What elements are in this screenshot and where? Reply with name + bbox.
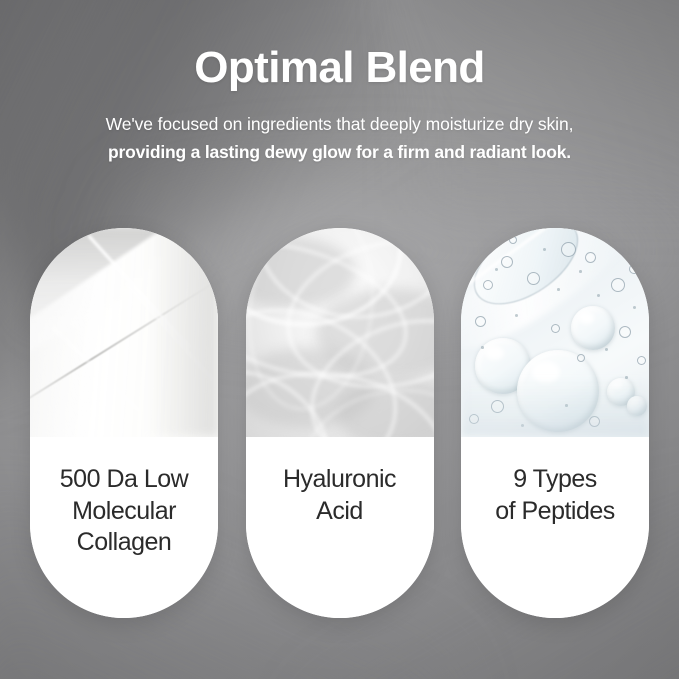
page-subtitle: We've focused on ingredients that deeply… <box>0 91 679 167</box>
page-title: Optimal Blend <box>0 0 679 91</box>
card-body-collagen: 500 Da Low Molecular Collagen <box>30 437 218 618</box>
serum-bubbles-texture-icon <box>461 228 649 437</box>
subtitle-line-1: We've focused on ingredients that deeply… <box>106 114 574 134</box>
card-body-hyaluronic-acid: Hyaluronic Acid <box>246 437 434 618</box>
card-label-hyaluronic-acid: Hyaluronic Acid <box>251 464 429 527</box>
card-body-peptides: 9 Types of Peptides <box>461 437 649 618</box>
ingredient-card-peptides[interactable]: 9 Types of Peptides <box>461 228 649 618</box>
promo-banner: Optimal Blend We've focused on ingredien… <box>0 0 679 679</box>
ingredient-card-hyaluronic-acid[interactable]: Hyaluronic Acid <box>246 228 434 618</box>
header-block: Optimal Blend We've focused on ingredien… <box>0 0 679 166</box>
card-label-collagen: 500 Da Low Molecular Collagen <box>35 464 213 559</box>
subtitle-line-2: providing a lasting dewy glow for a firm… <box>0 138 679 166</box>
ingredient-card-collagen[interactable]: 500 Da Low Molecular Collagen <box>30 228 218 618</box>
water-ripple-texture-icon <box>246 228 434 437</box>
card-media-peptides <box>461 228 649 437</box>
card-media-hyaluronic-acid <box>246 228 434 437</box>
glossy-cream-texture-icon <box>30 228 218 437</box>
card-media-collagen <box>30 228 218 437</box>
ingredient-card-list: 500 Da Low Molecular Collagen <box>30 228 649 618</box>
card-label-peptides: 9 Types of Peptides <box>466 464 644 527</box>
